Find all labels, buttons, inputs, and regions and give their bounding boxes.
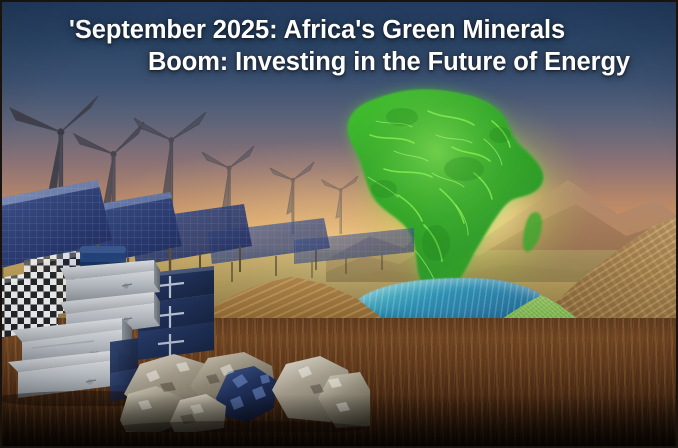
poster-image: 'September 2025: Africa's Green Minerals…	[0, 0, 678, 448]
title-line-1: 'September 2025: Africa's Green Minerals	[2, 14, 678, 46]
bottom-shadow	[2, 394, 676, 446]
title-line-2: Boom: Investing in the Future of Energy	[2, 46, 678, 78]
poster-title: 'September 2025: Africa's Green Minerals…	[2, 14, 678, 78]
